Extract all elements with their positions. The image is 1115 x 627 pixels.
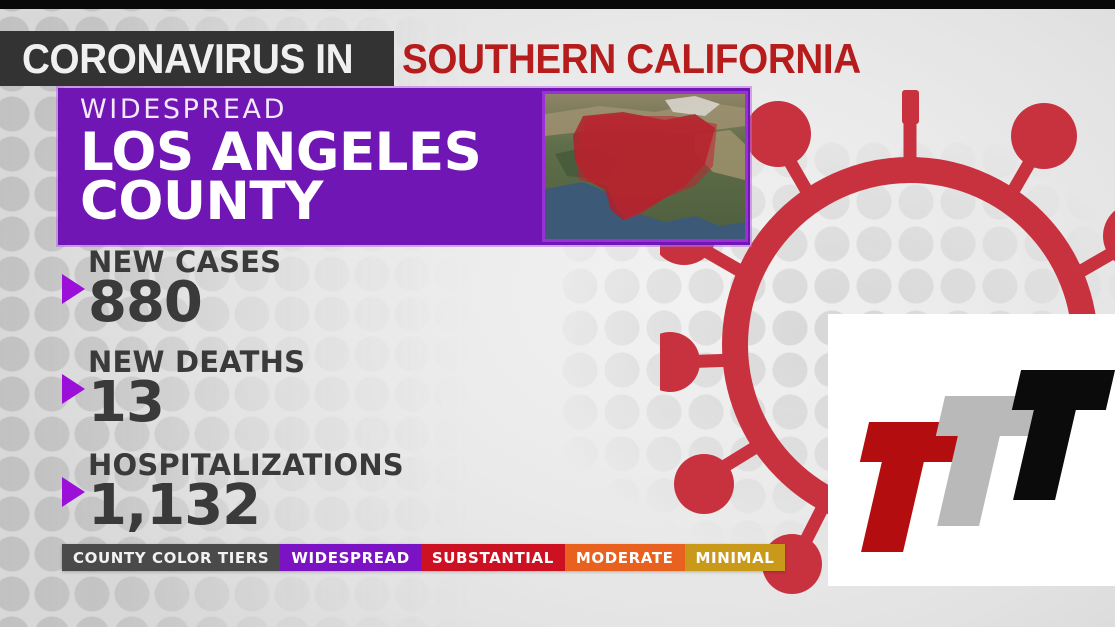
headline-primary-text: CORONAVIRUS IN xyxy=(22,38,353,80)
legend-title: COUNTY COLOR TIERS xyxy=(62,544,280,571)
bullet-triangle-icon xyxy=(62,274,85,304)
map-image xyxy=(545,94,745,239)
stat-value: 880 xyxy=(88,277,532,330)
county-color-tier-legend: COUNTY COLOR TIERS WIDESPREAD SUBSTANTIA… xyxy=(62,544,785,571)
bullet-triangle-icon xyxy=(62,477,85,507)
legend-tier-widespread: WIDESPREAD xyxy=(280,544,420,571)
legend-tier-minimal: MINIMAL xyxy=(685,544,786,571)
stat-new-cases: NEW CASES 880 xyxy=(62,248,532,330)
headline-dark-segment: CORONAVIRUS IN xyxy=(0,31,394,86)
legend-tier-moderate: MODERATE xyxy=(565,544,685,571)
stats-group: NEW CASES 880 NEW DEATHS 13 HOSPITALIZAT… xyxy=(62,248,532,539)
county-text-group: WIDESPREAD LOS ANGELES COUNTY xyxy=(80,96,580,227)
county-headline-block: WIDESPREAD LOS ANGELES COUNTY xyxy=(58,88,750,245)
stat-hospitalizations: HOSPITALIZATIONS 1,132 xyxy=(62,451,532,533)
top-black-bar xyxy=(0,0,1115,9)
map-thumbnail xyxy=(542,91,748,242)
stat-new-deaths: NEW DEATHS 13 xyxy=(62,348,532,430)
bullet-triangle-icon xyxy=(62,374,85,404)
county-name-line2: COUNTY xyxy=(80,178,580,227)
triple-t-logo-icon xyxy=(828,314,1115,586)
headline-region-text: SOUTHERN CALIFORNIA xyxy=(402,38,861,80)
county-name: LOS ANGELES COUNTY xyxy=(80,129,580,227)
stat-value: 13 xyxy=(88,377,532,430)
broadcast-graphic-screen: CORONAVIRUS IN SOUTHERN CALIFORNIA WIDES… xyxy=(0,0,1115,627)
headline-bar: CORONAVIRUS IN SOUTHERN CALIFORNIA xyxy=(0,31,1115,86)
stat-value: 1,132 xyxy=(88,480,532,533)
legend-tier-substantial: SUBSTANTIAL xyxy=(421,544,565,571)
station-logo xyxy=(828,314,1115,586)
tier-label: WIDESPREAD xyxy=(80,96,580,123)
headline-light-segment: SOUTHERN CALIFORNIA xyxy=(394,31,911,86)
